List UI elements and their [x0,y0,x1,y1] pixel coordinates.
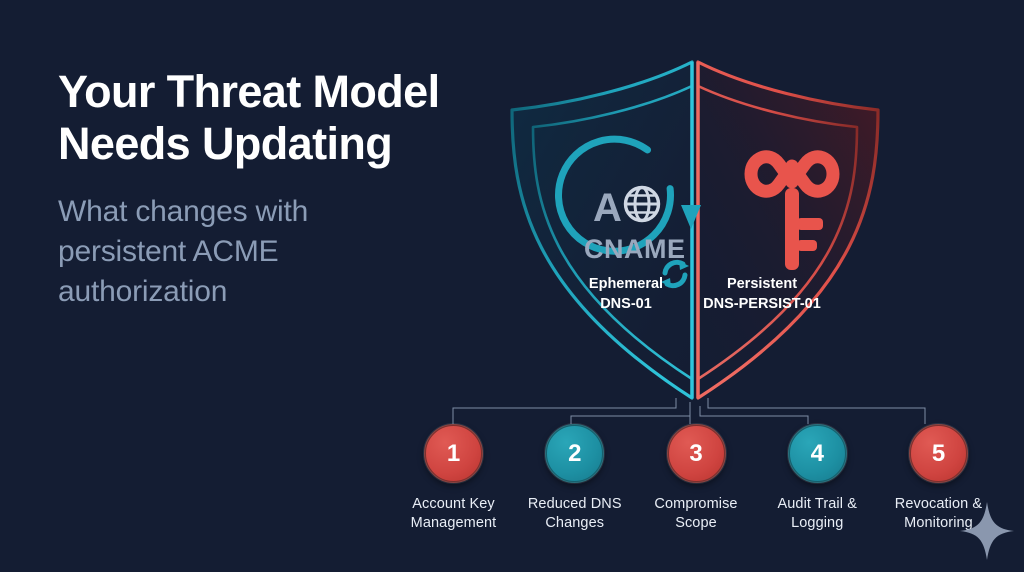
shield-right-label-bottom: DNS-PERSIST-01 [703,296,821,312]
list-item-label: Compromise Scope [654,495,737,533]
heading-block: Your Threat Model Needs Updating What ch… [58,66,488,312]
status-badge[interactable]: 4 [788,424,847,483]
page-title: Your Threat Model Needs Updating [58,66,488,170]
shield-left-label-bottom: DNS-01 [600,296,652,312]
sparkle-icon [958,500,1016,562]
shield-left-half [512,62,692,398]
list-item-label: Audit Trail & Logging [778,495,857,533]
shield-left-label-top: Ephemeral [589,276,663,292]
split-shield-graphic: A CNAME [490,46,910,416]
list-item-label: Reduced DNS Changes [528,495,622,533]
list-item[interactable]: 1 Account Key Management [396,424,511,533]
status-badge[interactable]: 1 [424,424,483,483]
infographic-canvas: Your Threat Model Needs Updating What ch… [0,0,1024,572]
list-item[interactable]: 4 Audit Trail & Logging [760,424,875,533]
shield-right-label-top: Persistent [727,276,797,292]
status-badge[interactable]: 5 [909,424,968,483]
numbered-items-row: 1 Account Key Management 2 Reduced DNS C… [396,424,996,544]
page-subtitle: What changes with persistent ACME author… [58,192,488,312]
svg-text:A: A [593,186,622,230]
list-item[interactable]: 2 Reduced DNS Changes [517,424,632,533]
status-badge[interactable]: 2 [545,424,604,483]
svg-text:CNAME: CNAME [584,234,686,264]
list-item-label: Account Key Management [411,495,497,533]
status-badge[interactable]: 3 [667,424,726,483]
list-item[interactable]: 3 Compromise Scope [639,424,754,533]
